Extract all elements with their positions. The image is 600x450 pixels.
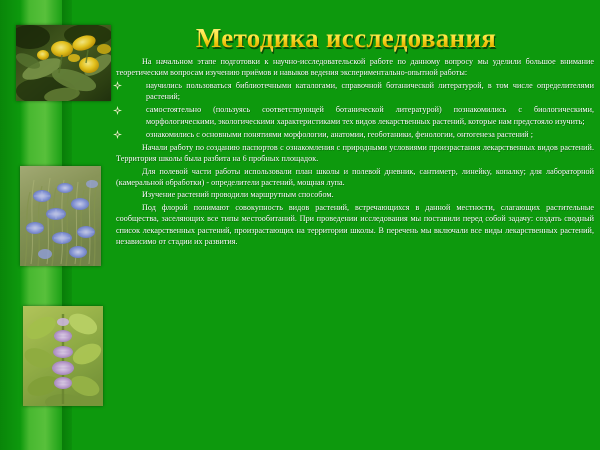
list-item-text: научились пользоваться библиотечными кат…: [146, 81, 594, 101]
blue-chicory-photo-art: [20, 166, 101, 266]
list-item: самостоятельно (пользуясь соответствующе…: [116, 104, 594, 127]
diamond-bullet-icon: [113, 130, 122, 139]
diamond-bullet-icon: [113, 81, 122, 90]
presentation-slide: Методика исследования Методика исследова…: [0, 0, 600, 450]
paragraph-field-tools: Для полевой части работы использовали пл…: [116, 166, 594, 189]
paragraph-passports: Начали работу по созданию паспортов с оз…: [116, 142, 594, 165]
list-item-text: самостоятельно (пользуясь соответствующе…: [146, 105, 594, 125]
yellow-flower-photo-art: [16, 25, 111, 101]
slide-body: На начальном этапе подготовки к научно-и…: [116, 56, 594, 249]
list-item: научились пользоваться библиотечными кат…: [116, 80, 594, 103]
intro-paragraph: На начальном этапе подготовки к научно-и…: [116, 56, 594, 79]
list-item-text: ознакомились с основными понятиями морфо…: [146, 130, 533, 139]
mint-flower-photo: [23, 306, 103, 406]
page-title: Методика исследования: [176, 20, 516, 56]
mint-flower-photo-art: [23, 306, 103, 406]
paragraph-flora-definition: Под флорой понимают совокупность видов р…: [116, 202, 594, 248]
diamond-bullet-icon: [113, 106, 122, 115]
list-item: ознакомились с основными понятиями морфо…: [116, 129, 594, 140]
bullet-list: научились пользоваться библиотечными кат…: [116, 80, 594, 140]
blue-chicory-photo: [20, 166, 101, 266]
paragraph-route-method: Изучение растений проводили маршрутным с…: [116, 189, 594, 200]
yellow-flower-photo: [16, 25, 111, 101]
